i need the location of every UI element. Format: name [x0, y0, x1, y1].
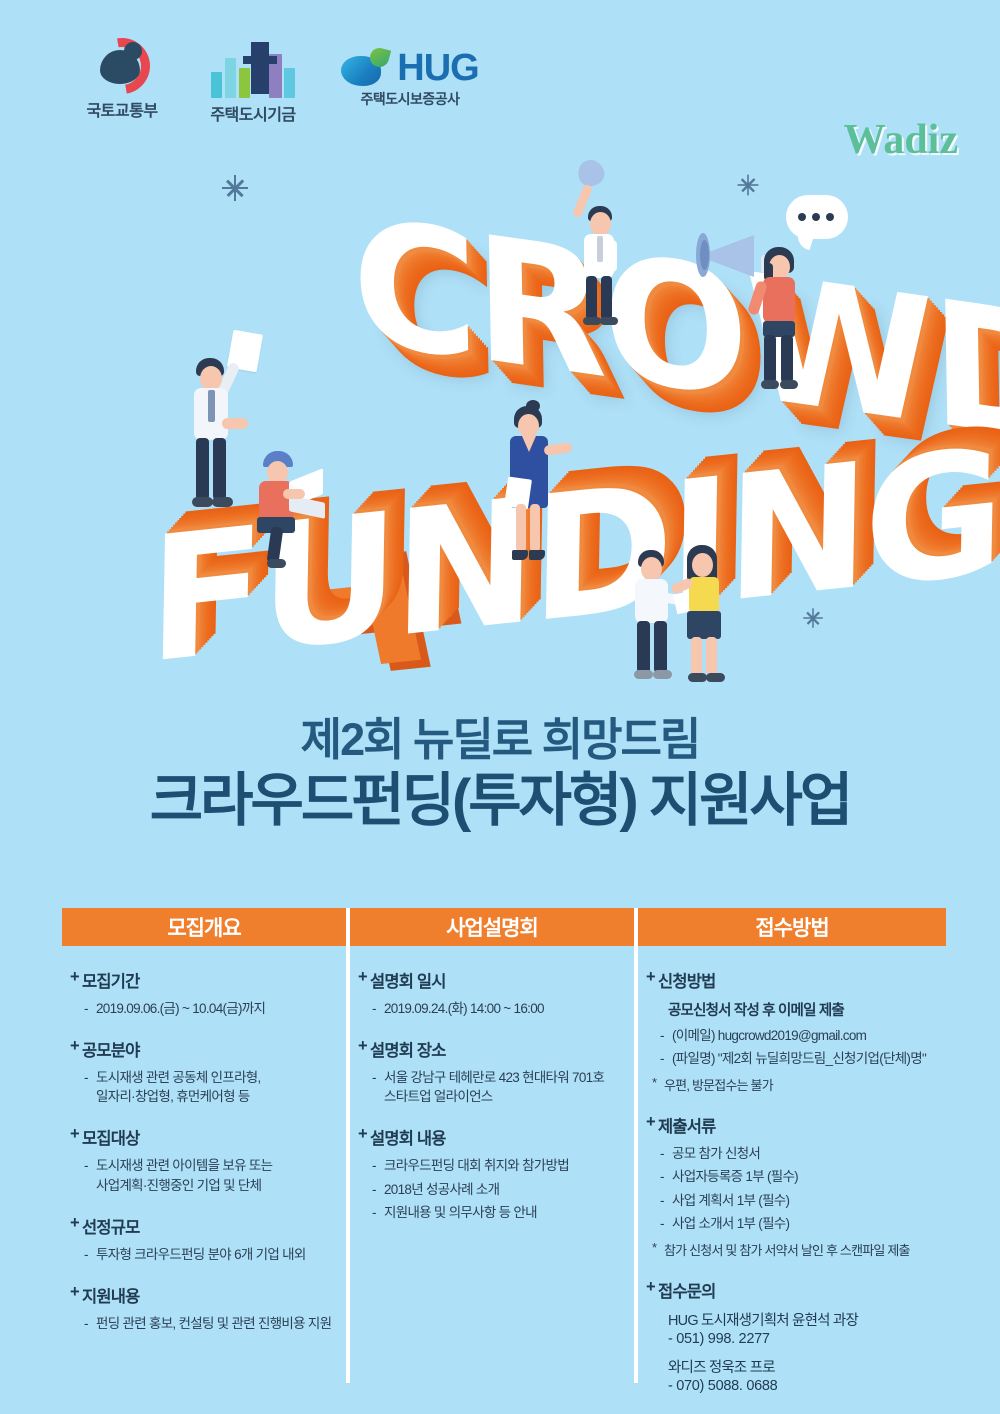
group-title: +공모분야 [70, 1037, 340, 1061]
group-title: +선정규모 [70, 1214, 340, 1238]
group-item: -서울 강남구 테헤란로 423 현대타워 701호 스타트업 얼라이언스 [358, 1068, 628, 1106]
bar-chart-icon [207, 40, 299, 98]
poster-root: 국토교통부 주택도시기금 HUG 주택도시보증공사 Wadiz C [0, 0, 1000, 1414]
group-documents: +제출서류 -공모 참가 신청서 -사업자등록증 1부 (필수) -사업 계획서… [646, 1113, 940, 1259]
group-item: -펀딩 관련 홍보, 컨설팅 및 관련 진행비용 지원 [70, 1314, 340, 1333]
group-item: -도시재생 관련 공동체 인프라형, 일자리·창업형, 휴먼케어형 등 [70, 1068, 340, 1106]
illustration-person-megaphone [750, 225, 840, 395]
group-item: -지원내용 및 의무사항 등 안내 [358, 1203, 628, 1222]
contact-person-hug: HUG 도시재생기획처 윤현석 과장 [646, 1309, 940, 1330]
title-line-2: 크라우드펀딩(투자형) 지원사업 [0, 769, 1000, 834]
speech-bubble-icon [786, 195, 848, 239]
column-header-recruitment: 모집개요 [62, 908, 346, 946]
info-table: 모집개요 +모집기간 -2019.09.06.(금) ~ 10.04(금)까지 … [62, 908, 938, 1383]
logo-molit: 국토교통부 [52, 38, 192, 121]
info-column-briefing: 사업설명회 +설명회 일시 -2019.09.24.(화) 14:00 ~ 16… [350, 908, 634, 1383]
sparkle-icon [222, 175, 248, 201]
group-title: +제출서류 [646, 1113, 940, 1137]
group-item: -2019.09.24.(화) 14:00 ~ 16:00 [358, 999, 628, 1018]
group-item-filename: -(파일명) "제2회 뉴딜희망드림_신청기업(단체)명" [646, 1049, 940, 1068]
logo-molit-label: 국토교통부 [52, 97, 192, 121]
group-item: -사업 소개서 1부 (필수) [646, 1214, 940, 1233]
group-item: -도시재생 관련 아이템을 보유 또는 사업계획·진행중인 기업 및 단체 [70, 1156, 340, 1194]
contact-phone-hug: - 051) 998. 2277 [646, 1331, 940, 1347]
group-title: +접수문의 [646, 1278, 940, 1302]
hug-swoosh-icon [341, 48, 391, 88]
group-target: +모집대상 -도시재생 관련 아이템을 보유 또는 사업계획·진행중인 기업 및… [70, 1125, 340, 1194]
group-briefing-datetime: +설명회 일시 -2019.09.24.(화) 14:00 ~ 16:00 [358, 968, 628, 1018]
group-item-email: -(이메일) hugcrowd2019@gmail.com [646, 1026, 940, 1045]
group-note: *참가 신청서 및 참가 서약서 날인 후 스캔파일 제출 [646, 1240, 940, 1259]
group-briefing-content: +설명회 내용 -크라우드펀딩 대회 취지와 참가방법 -2018년 성공사례 … [358, 1125, 628, 1221]
group-contact: +접수문의 HUG 도시재생기획처 윤현석 과장 - 051) 998. 227… [646, 1278, 940, 1394]
group-title: +설명회 일시 [358, 968, 628, 992]
illustration-person-pair-woman [675, 545, 737, 690]
info-column-application: 접수방법 +신청방법 공모신청서 작성 후 이메일 제출 -(이메일) hugc… [638, 908, 946, 1383]
logo-hug: HUG 주택도시보증공사 [320, 48, 500, 109]
group-item: -사업 계획서 1부 (필수) [646, 1191, 940, 1210]
logo-hug-label: 주택도시보증공사 [320, 89, 500, 109]
group-title: +모집기간 [70, 968, 340, 992]
group-item-plain: 공모신청서 작성 후 이메일 제출 [646, 999, 940, 1020]
group-item: -공모 참가 신청서 [646, 1144, 940, 1163]
taegeuk-icon [94, 38, 150, 94]
group-support: +지원내용 -펀딩 관련 홍보, 컨설팅 및 관련 진행비용 지원 [70, 1283, 340, 1333]
group-title: +설명회 장소 [358, 1037, 628, 1061]
contact-phone-wadiz: - 070) 5088. 0688 [646, 1378, 940, 1394]
logo-housing-fund-label: 주택도시기금 [178, 101, 328, 125]
hero-illustration: CROWD FUNDING [0, 150, 1000, 710]
poster-title-block: 제2회 뉴딜로 희망드림 크라우드펀딩(투자형) 지원사업 [0, 716, 1000, 834]
group-item: -2018년 성공사례 소개 [358, 1180, 628, 1199]
illustration-person-top [560, 190, 630, 330]
group-how-to-apply: +신청방법 공모신청서 작성 후 이메일 제출 -(이메일) hugcrowd2… [646, 968, 940, 1094]
group-field: +공모분야 -도시재생 관련 공동체 인프라형, 일자리·창업형, 휴먼케어형 … [70, 1037, 340, 1106]
megaphone-icon [698, 233, 764, 275]
group-title: +설명회 내용 [358, 1125, 628, 1149]
group-period: +모집기간 -2019.09.06.(금) ~ 10.04(금)까지 [70, 968, 340, 1018]
sparkle-icon [738, 175, 759, 196]
group-item: -크라우드펀딩 대회 취지와 참가방법 [358, 1156, 628, 1175]
column-header-briefing: 사업설명회 [350, 908, 634, 946]
column-header-application: 접수방법 [638, 908, 946, 946]
logo-housing-fund: 주택도시기금 [178, 40, 328, 125]
group-title: +지원내용 [70, 1283, 340, 1307]
group-scale: +선정규모 -투자형 크라우드펀딩 분야 6개 기업 내외 [70, 1214, 340, 1264]
illustration-person-dress [500, 400, 570, 580]
logo-bar: 국토교통부 주택도시기금 HUG 주택도시보증공사 Wadiz [0, 38, 1000, 138]
hug-wordmark: HUG [397, 49, 478, 87]
group-note: *우편, 방문접수는 불가 [646, 1075, 940, 1094]
title-line-1: 제2회 뉴딜로 희망드림 [0, 716, 1000, 765]
group-item: -투자형 크라우드펀딩 분야 6개 기업 내외 [70, 1245, 340, 1264]
info-column-recruitment: 모집개요 +모집기간 -2019.09.06.(금) ~ 10.04(금)까지 … [62, 908, 346, 1383]
group-item: -사업자등록증 1부 (필수) [646, 1167, 940, 1186]
group-title: +모집대상 [70, 1125, 340, 1149]
group-item: -2019.09.06.(금) ~ 10.04(금)까지 [70, 999, 340, 1018]
illustration-person-sitting [245, 455, 325, 575]
group-briefing-venue: +설명회 장소 -서울 강남구 테헤란로 423 현대타워 701호 스타트업 … [358, 1037, 628, 1106]
group-title: +신청방법 [646, 968, 940, 992]
contact-person-wadiz: 와디즈 정욱조 프로 [646, 1356, 940, 1377]
